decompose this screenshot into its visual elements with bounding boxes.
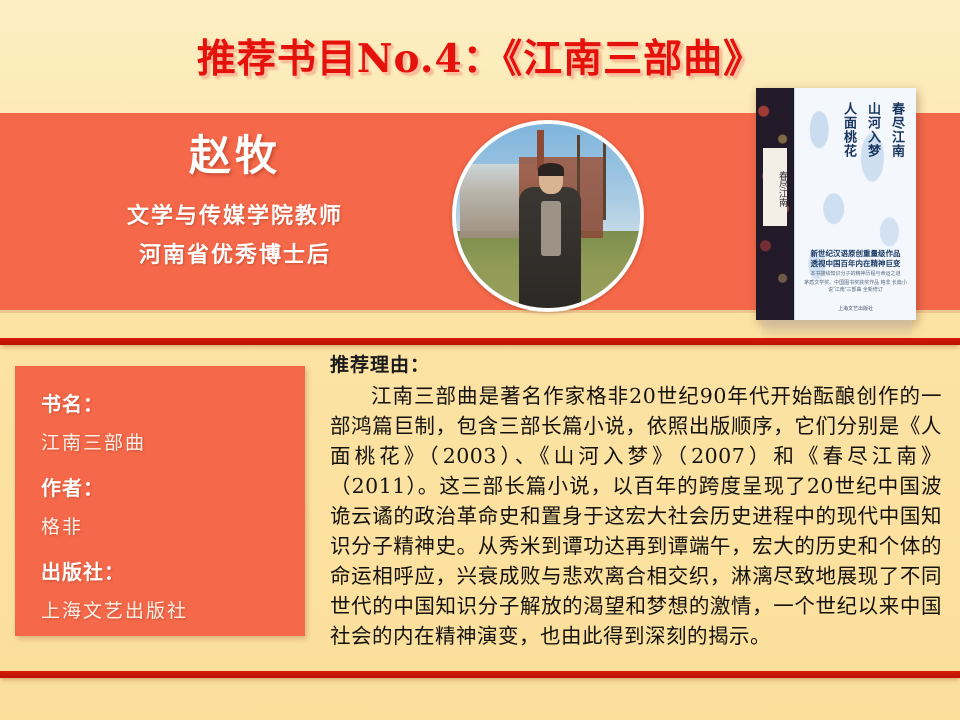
- book-title-2: 山河入梦: [863, 102, 882, 212]
- book-cover-titles: 人面桃花 山河入梦 春尽江南: [839, 102, 906, 212]
- slide-root: 推荐书目No.4：《江南三部曲》 赵牧 文学与传媒学院教师 河南省优秀博士后 春…: [0, 0, 960, 720]
- book-publisher-value: 上海文艺出版社: [41, 596, 279, 623]
- divider-rule-bottom: [0, 671, 960, 678]
- book-publisher-label: 出版社：: [41, 556, 279, 585]
- book-cover-front: 人面桃花 山河入梦 春尽江南 新世纪汉语原创重量级作品 透视中国百年内在精神巨变…: [794, 88, 916, 320]
- book-band-sub1: 本书描绘知识分子的精神历程与命运之谜: [803, 271, 908, 278]
- recommendation-section: 推荐理由： 江南三部曲是著名作家格非20世纪90年代开始酝酿创作的一部鸿篇巨制，…: [330, 350, 942, 651]
- book-boxset-image: 春尽江南 人面桃花 山河入梦 春尽江南 新世纪汉语原创重量级作品 透视中国百年内…: [756, 88, 916, 338]
- speaker-affiliation: 文学与传媒学院教师: [40, 197, 430, 236]
- speaker-block: 赵牧 文学与传媒学院教师 河南省优秀博士后: [40, 122, 430, 274]
- book-band-line2: 透视中国百年内在精神巨变: [803, 259, 908, 269]
- book-author-value: 格非: [41, 512, 279, 539]
- speaker-portrait-photo: [452, 120, 644, 312]
- book-title-label: 书名：: [41, 388, 279, 417]
- speaker-honor: 河南省优秀博士后: [40, 236, 430, 275]
- recommendation-body: 江南三部曲是著名作家格非20世纪90年代开始酝酿创作的一部鸿篇巨制，包含三部长篇…: [330, 381, 942, 651]
- divider-rule-top: [0, 338, 960, 345]
- book-publisher-logo: 上海文艺出版社: [838, 305, 873, 312]
- book-title-value: 江南三部曲: [41, 428, 279, 455]
- photo-tree-right: [603, 142, 606, 219]
- book-band-line1: 新世纪汉语原创重量级作品: [803, 249, 908, 259]
- book-title-3: 春尽江南: [887, 102, 906, 212]
- book-cover-band: 新世纪汉语原创重量级作品 透视中国百年内在精神巨变 本书描绘知识分子的精神历程与…: [803, 249, 908, 294]
- book-author-label: 作者：: [41, 472, 279, 501]
- book-title-1: 人面桃花: [839, 102, 858, 212]
- photo-person-hair: [538, 163, 564, 176]
- book-spines: 春尽江南: [756, 88, 794, 320]
- book-reflection: [762, 320, 912, 336]
- recommendation-heading: 推荐理由：: [330, 350, 942, 377]
- book-band-sub2: 茅盾文学奖、中国图书奖获奖作品 格非 长篇小说“江南”三部曲 全新修订: [803, 280, 908, 294]
- book-info-card: 书名： 江南三部曲 作者： 格非 出版社： 上海文艺出版社: [15, 366, 305, 636]
- photo-person-shirt: [541, 201, 561, 256]
- book-spine-label: 春尽江南: [763, 148, 787, 226]
- speaker-name: 赵牧: [40, 122, 430, 183]
- page-title: 推荐书目No.4：《江南三部曲》: [197, 28, 763, 84]
